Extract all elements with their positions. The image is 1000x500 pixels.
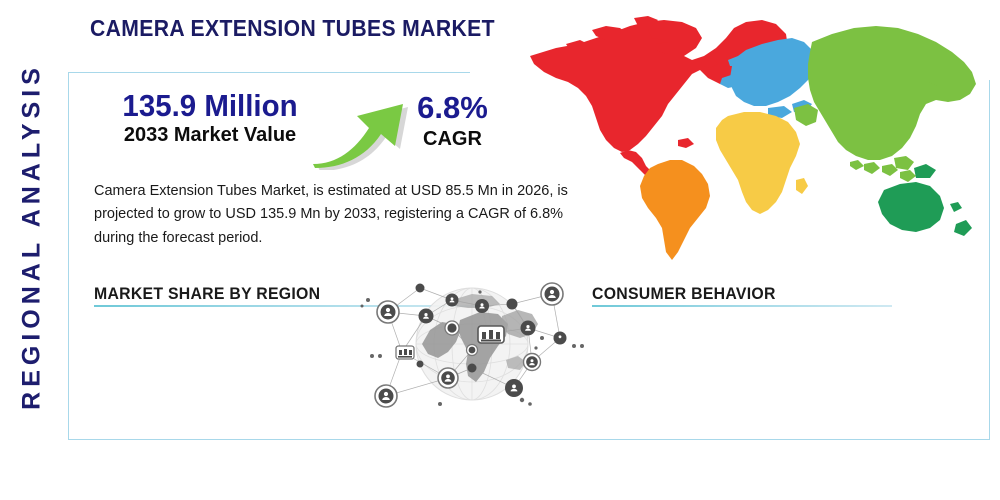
global-network-illustration: [356, 272, 588, 422]
cagr-block: 6.8% CAGR: [395, 92, 510, 152]
map-region-asia: [794, 26, 976, 182]
regional-analysis-label: REGIONAL ANALYSIS: [18, 37, 47, 437]
cagr-label: CAGR: [395, 126, 510, 152]
section-heading-market-share: MARKET SHARE BY REGION: [94, 284, 320, 304]
page-title: CAMERA EXTENSION TUBES MARKET: [90, 15, 495, 42]
map-region-south-america: [640, 160, 710, 260]
kpi-row: 135.9 Million 2033 Market Value 6.8% CAG…: [95, 90, 505, 170]
cagr-number: 6.8%: [395, 92, 510, 123]
section-heading-consumer-behavior: CONSUMER BEHAVIOR: [592, 284, 776, 304]
infographic-root: REGIONAL ANALYSIS CAMERA EXTENSION TUBES…: [0, 0, 1000, 500]
market-value-number: 135.9 Million: [101, 90, 320, 121]
consumer-behavior-donut-chart: [858, 308, 966, 416]
consumer-behavior-line-chart: [600, 312, 792, 416]
map-region-oceania: [878, 164, 972, 236]
market-share-bar-chart: [93, 314, 283, 418]
section-rule-consumer-behavior: [592, 305, 892, 307]
market-value-label: 2033 Market Value: [95, 123, 325, 148]
region-buttons-row: [80, 440, 980, 494]
world-map: [496, 8, 994, 270]
map-region-africa: [716, 112, 808, 214]
side-label-container: REGIONAL ANALYSIS: [0, 0, 70, 500]
market-value-block: 135.9 Million 2033 Market Value: [95, 90, 325, 148]
